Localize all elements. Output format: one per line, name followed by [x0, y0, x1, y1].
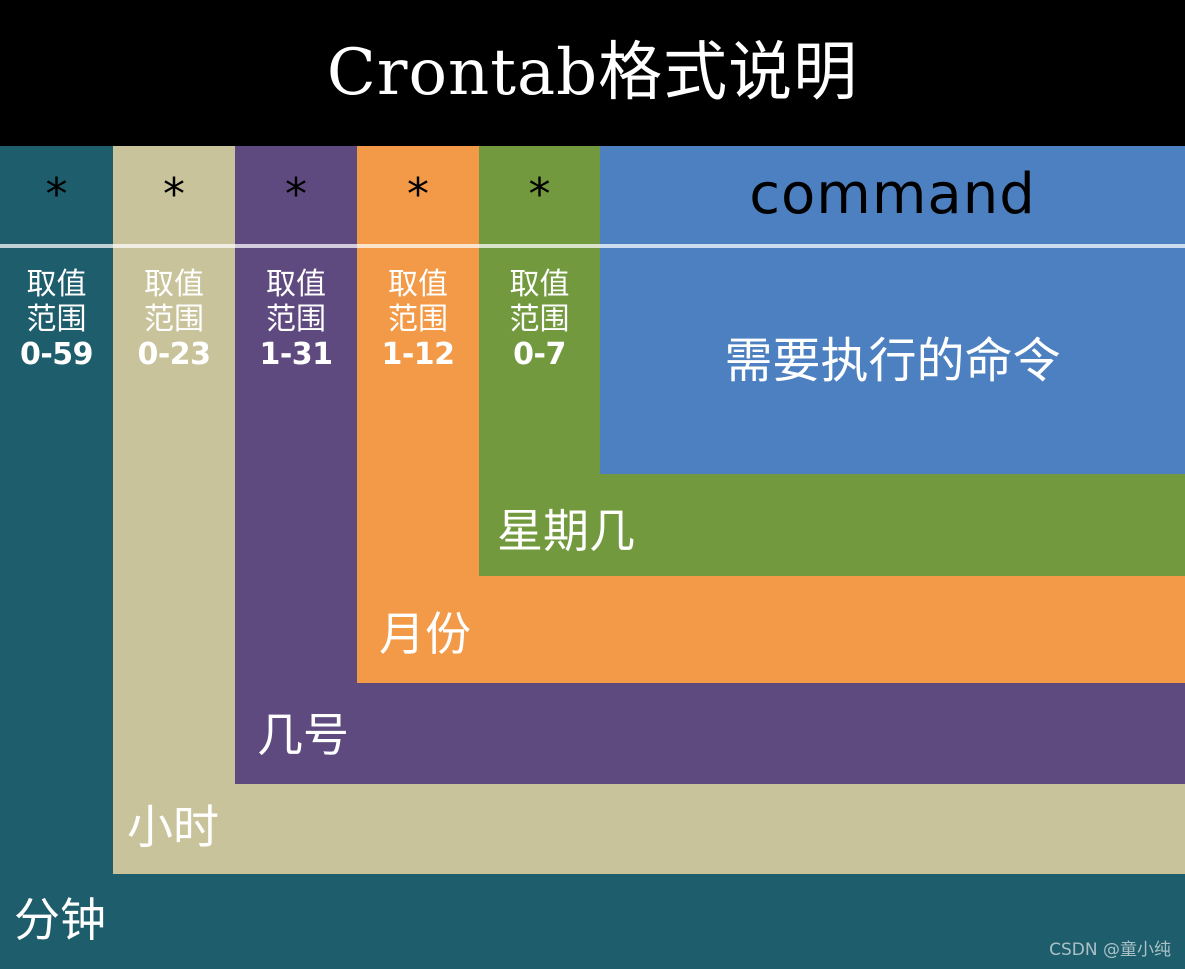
- asterisk-icon: *: [46, 173, 68, 217]
- star-cell-day-of-month[interactable]: *: [235, 146, 357, 244]
- range-value-day-of-month: 1-31: [235, 338, 357, 373]
- asterisk-icon: *: [407, 173, 429, 217]
- range-cell-month: 取值 范围 1-12: [357, 248, 479, 372]
- star-cell-day-of-week[interactable]: *: [479, 146, 600, 244]
- range-label-line1: 取值: [357, 268, 479, 303]
- command-header-cell[interactable]: command: [600, 146, 1185, 244]
- range-cell-hour: 取值 范围 0-23: [113, 248, 235, 372]
- band-label-hour: 小时: [127, 804, 219, 850]
- band-label-month: 月份: [379, 611, 471, 657]
- range-label-line2: 范围: [113, 303, 235, 338]
- command-header-label: command: [749, 167, 1036, 223]
- range-label-line1: 取值: [479, 268, 600, 303]
- diagram-body: 分钟 小时 几号 月份 星期几 * * * *: [0, 146, 1185, 969]
- range-cell-day-of-month: 取值 范围 1-31: [235, 248, 357, 372]
- range-label-line1: 取值: [113, 268, 235, 303]
- range-value-minute: 0-59: [0, 338, 113, 373]
- asterisk-icon: *: [529, 173, 551, 217]
- band-label-day-of-month: 几号: [257, 712, 349, 758]
- range-label-line1: 取值: [0, 268, 113, 303]
- star-cell-hour[interactable]: *: [113, 146, 235, 244]
- title-bar: Crontab格式说明: [0, 0, 1185, 146]
- band-label-minute: 分钟: [14, 897, 106, 943]
- star-cell-minute[interactable]: *: [0, 146, 113, 244]
- range-value-day-of-week: 0-7: [479, 338, 600, 373]
- page-title: Crontab格式说明: [327, 41, 858, 105]
- range-cell-day-of-week: 取值 范围 0-7: [479, 248, 600, 372]
- asterisk-icon: *: [163, 173, 185, 217]
- range-label-line2: 范围: [0, 303, 113, 338]
- range-label-line2: 范围: [357, 303, 479, 338]
- range-value-hour: 0-23: [113, 338, 235, 373]
- range-label-line2: 范围: [479, 303, 600, 338]
- star-header-row: * * * * * command: [0, 146, 1185, 244]
- star-cell-month[interactable]: *: [357, 146, 479, 244]
- band-label-day-of-week: 星期几: [497, 508, 635, 554]
- watermark: CSDN @童小纯: [1049, 942, 1171, 959]
- crontab-format-diagram: Crontab格式说明 分钟 小时 几号 月份 星期几 * *: [0, 0, 1185, 969]
- range-label-line1: 取值: [235, 268, 357, 303]
- command-description: 需要执行的命令: [600, 248, 1185, 474]
- range-label-line2: 范围: [235, 303, 357, 338]
- asterisk-icon: *: [285, 173, 307, 217]
- range-value-month: 1-12: [357, 338, 479, 373]
- range-cell-minute: 取值 范围 0-59: [0, 248, 113, 372]
